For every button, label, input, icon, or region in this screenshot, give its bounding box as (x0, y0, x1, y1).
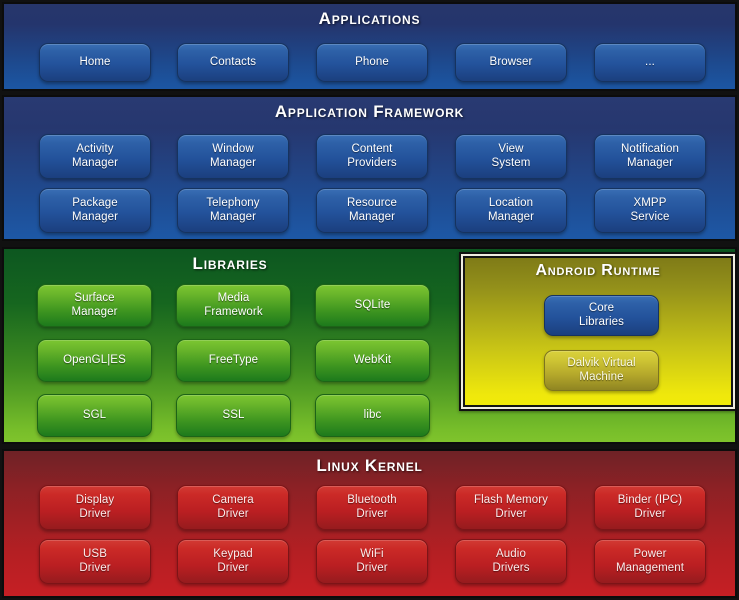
node-label: Window Manager (210, 143, 256, 170)
node-label: Core Libraries (579, 302, 624, 329)
layer-title-linux-kernel: Linux Kernel (4, 451, 735, 476)
node-label: SQLite (355, 299, 391, 313)
node-label: FreeType (209, 354, 258, 368)
node-camera-driver[interactable]: Camera Driver (177, 485, 289, 530)
node-label: Phone (355, 56, 389, 70)
node-telephony-manager[interactable]: Telephony Manager (177, 188, 289, 233)
node-label: OpenGL|ES (63, 354, 126, 368)
node-label: View System (492, 143, 531, 170)
node-label: Media Framework (204, 292, 262, 319)
node-usb-driver[interactable]: USB Driver (39, 539, 151, 584)
node-label: Keypad Driver (213, 548, 253, 575)
layer-applications: Applications Home Contacts Phone Browser… (2, 2, 737, 91)
layer-android-runtime: Android Runtime Core Libraries Dalvik Vi… (459, 252, 737, 411)
layer-title-applications: Applications (4, 4, 735, 29)
node-wifi-driver[interactable]: WiFi Driver (316, 539, 428, 584)
node-label: WebKit (354, 354, 391, 368)
node-bluetooth-driver[interactable]: Bluetooth Driver (316, 485, 428, 530)
node-surface-manager[interactable]: Surface Manager (37, 284, 152, 327)
node-label: Contacts (210, 56, 256, 70)
node-activity-manager[interactable]: Activity Manager (39, 134, 151, 179)
node-audio-drivers[interactable]: Audio Drivers (455, 539, 567, 584)
node-label: Surface Manager (71, 292, 117, 319)
android-architecture-diagram: Applications Home Contacts Phone Browser… (0, 0, 739, 600)
node-core-libraries[interactable]: Core Libraries (544, 295, 659, 336)
node-label: Display Driver (76, 494, 114, 521)
node-label: SSL (222, 409, 244, 423)
node-label: WiFi Driver (356, 548, 387, 575)
node-dalvik-virtual-machine[interactable]: Dalvik Virtual Machine (544, 350, 659, 391)
node-label: XMPP Service (630, 197, 669, 224)
node-opengl-es[interactable]: OpenGL|ES (37, 339, 152, 382)
node-package-manager[interactable]: Package Manager (39, 188, 151, 233)
node-phone[interactable]: Phone (316, 43, 428, 82)
android-runtime-inner: Android Runtime Core Libraries Dalvik Vi… (463, 256, 733, 407)
node-webkit[interactable]: WebKit (315, 339, 430, 382)
node-label: Audio Drivers (492, 548, 529, 575)
node-label: Telephony Manager (206, 197, 259, 224)
node-label: Browser (490, 56, 533, 70)
node-label: SGL (83, 409, 106, 423)
node-sgl[interactable]: SGL (37, 394, 152, 437)
node-sqlite[interactable]: SQLite (315, 284, 430, 327)
node-home[interactable]: Home (39, 43, 151, 82)
node-label: Dalvik Virtual Machine (567, 357, 635, 384)
layer-title-application-framework: Application Framework (4, 97, 735, 122)
layer-linux-kernel: Linux Kernel Display Driver Camera Drive… (2, 449, 737, 598)
node-more-apps[interactable]: ... (594, 43, 706, 82)
node-label: Activity Manager (72, 143, 118, 170)
node-content-providers[interactable]: Content Providers (316, 134, 428, 179)
node-xmpp-service[interactable]: XMPP Service (594, 188, 706, 233)
node-label: ... (645, 56, 655, 70)
node-keypad-driver[interactable]: Keypad Driver (177, 539, 289, 584)
node-label: Flash Memory Driver (474, 494, 548, 521)
node-label: Content Providers (347, 143, 396, 170)
node-media-framework[interactable]: Media Framework (176, 284, 291, 327)
node-notification-manager[interactable]: Notification Manager (594, 134, 706, 179)
layer-title-android-runtime: Android Runtime (465, 258, 731, 280)
node-binder-ipc-driver[interactable]: Binder (IPC) Driver (594, 485, 706, 530)
node-display-driver[interactable]: Display Driver (39, 485, 151, 530)
node-flash-memory-driver[interactable]: Flash Memory Driver (455, 485, 567, 530)
node-location-manager[interactable]: Location Manager (455, 188, 567, 233)
node-libc[interactable]: libc (315, 394, 430, 437)
node-label: Camera Driver (212, 494, 254, 521)
node-label: Power Management (616, 548, 684, 575)
layer-title-libraries: Libraries (4, 249, 456, 274)
node-resource-manager[interactable]: Resource Manager (316, 188, 428, 233)
node-label: Resource Manager (347, 197, 397, 224)
node-window-manager[interactable]: Window Manager (177, 134, 289, 179)
node-label: Binder (IPC) Driver (618, 494, 682, 521)
layer-title-libraries-text: Libraries (193, 254, 268, 273)
layer-application-framework: Application Framework Activity Manager W… (2, 95, 737, 241)
layer-libraries: Libraries Surface Manager Media Framewor… (2, 247, 737, 444)
node-power-management[interactable]: Power Management (594, 539, 706, 584)
node-label: Home (79, 56, 110, 70)
node-browser[interactable]: Browser (455, 43, 567, 82)
node-label: Package Manager (72, 197, 118, 224)
node-label: Bluetooth Driver (347, 494, 397, 521)
node-ssl[interactable]: SSL (176, 394, 291, 437)
node-label: libc (364, 409, 382, 423)
node-label: Location Manager (488, 197, 534, 224)
node-label: Notification Manager (621, 143, 679, 170)
node-contacts[interactable]: Contacts (177, 43, 289, 82)
node-label: USB Driver (79, 548, 110, 575)
node-view-system[interactable]: View System (455, 134, 567, 179)
node-freetype[interactable]: FreeType (176, 339, 291, 382)
